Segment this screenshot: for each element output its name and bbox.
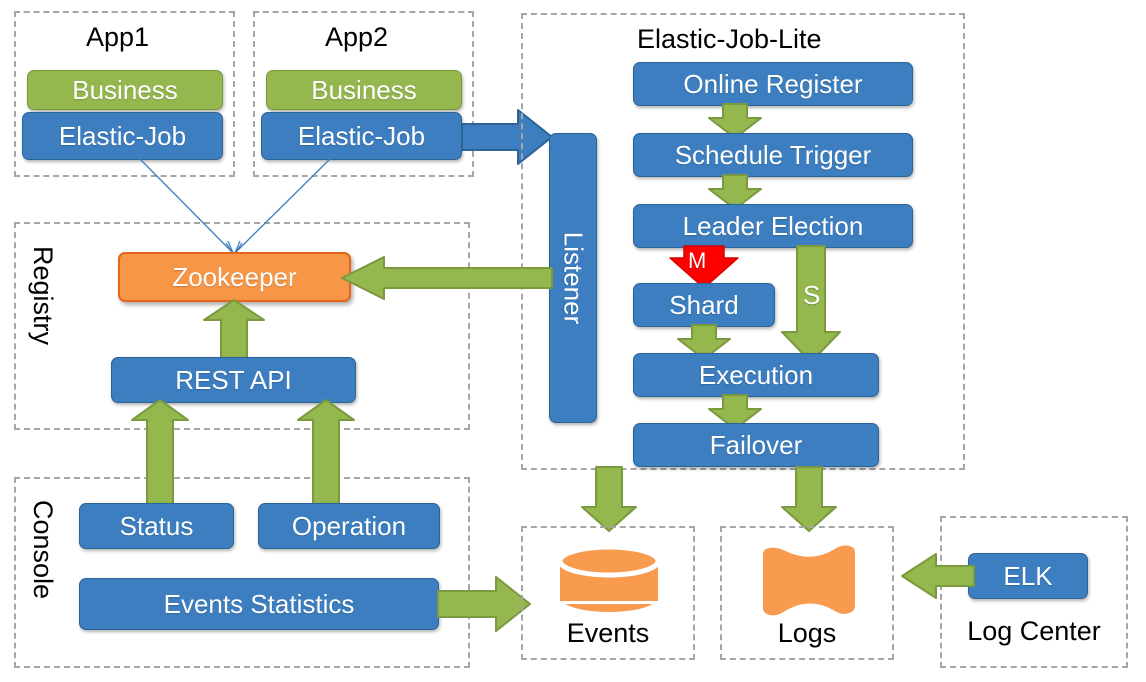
node-app2-business[interactable]: Business <box>266 70 462 110</box>
group-elastic-job-lite-title: Elastic-Job-Lite <box>637 26 822 53</box>
node-rest-api[interactable]: REST API <box>111 357 356 403</box>
diagram-canvas: App1 Business Elastic-Job App2 Business … <box>0 0 1146 682</box>
node-listener[interactable]: Listener <box>549 133 597 423</box>
arrow-lite-to-logs <box>780 467 838 533</box>
node-failover[interactable]: Failover <box>633 423 879 467</box>
arrow-elk-to-logs <box>900 552 976 600</box>
arrow-lite-to-events <box>580 467 638 533</box>
node-leader-election[interactable]: Leader Election <box>633 204 913 248</box>
arrow-status-to-rest-api <box>129 398 191 508</box>
group-logs-title: Logs <box>755 620 859 647</box>
node-elk[interactable]: ELK <box>968 553 1088 599</box>
group-log-center-title: Log Center <box>952 618 1116 645</box>
group-console-title: Console <box>29 500 56 599</box>
group-registry-title: Registry <box>29 246 56 345</box>
group-app1-title: App1 <box>86 24 149 51</box>
arrow-rest-api-to-zookeeper <box>201 298 267 364</box>
node-app1-elastic-job[interactable]: Elastic-Job <box>22 112 223 160</box>
arrow-operation-to-rest-api <box>295 398 357 508</box>
arrow-label-slave: S <box>803 282 820 308</box>
node-shard[interactable]: Shard <box>633 283 775 327</box>
node-execution[interactable]: Execution <box>633 353 879 397</box>
node-zookeeper[interactable]: Zookeeper <box>118 252 351 302</box>
node-schedule-trigger[interactable]: Schedule Trigger <box>633 133 913 177</box>
group-events-title: Events <box>556 620 660 647</box>
database-cylinder-icon <box>551 543 667 626</box>
node-operation[interactable]: Operation <box>258 503 440 549</box>
node-listener-label: Listener <box>560 232 586 325</box>
node-app2-elastic-job[interactable]: Elastic-Job <box>261 112 462 160</box>
node-status[interactable]: Status <box>79 503 234 549</box>
node-app1-business[interactable]: Business <box>27 70 223 110</box>
group-app2-title: App2 <box>325 24 388 51</box>
node-online-register[interactable]: Online Register <box>633 62 913 106</box>
connector-app-elastic-job-to-zookeeper <box>0 155 420 260</box>
node-events-statistics[interactable]: Events Statistics <box>79 578 439 630</box>
arrow-label-master: M <box>688 250 706 272</box>
arrow-listener-to-zookeeper <box>340 255 554 301</box>
arrow-events-statistics-to-events <box>436 575 532 633</box>
